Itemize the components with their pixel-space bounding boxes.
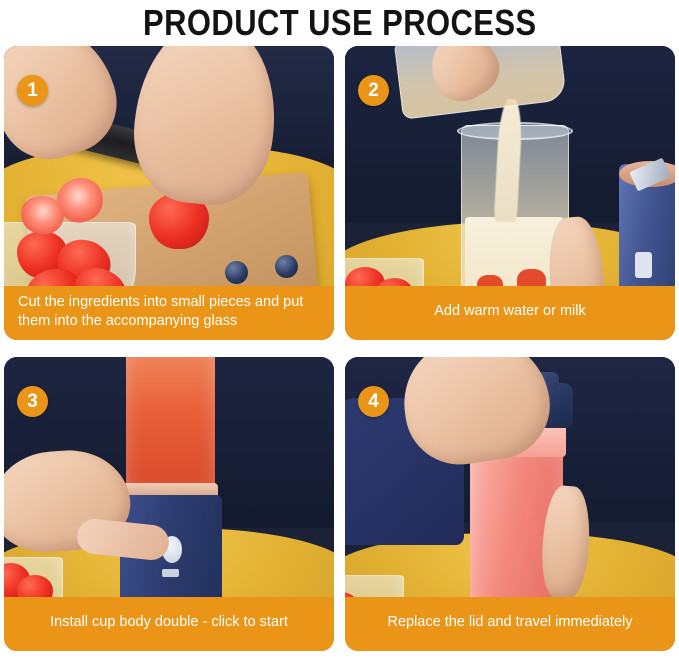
- step-caption-4: Replace the lid and travel immediately: [345, 597, 675, 651]
- step-number-badge-4: 4: [358, 386, 389, 417]
- step-caption-text: Replace the lid and travel immediately: [355, 613, 665, 632]
- blueberry-icon: [275, 255, 298, 279]
- step-panel-2: 2 Add warm water or milk: [345, 46, 675, 340]
- step-number-badge-1: 1: [17, 75, 48, 106]
- step-caption-text: Install cup body double - click to start: [14, 613, 324, 632]
- step-caption-text: Cut the ingredients into small pieces an…: [18, 293, 324, 331]
- blueberry-icon: [225, 261, 248, 285]
- step-caption-text: Add warm water or milk: [355, 302, 665, 321]
- steps-grid: 1 Cut the ingredients into small pieces …: [0, 46, 679, 659]
- product-use-process-infographic: PRODUCT USE PROCESS: [0, 0, 679, 659]
- step-panel-3: 3 Install cup body double - click to sta…: [4, 357, 334, 651]
- step-caption-1: Cut the ingredients into small pieces an…: [4, 286, 334, 340]
- step-caption-2: Add warm water or milk: [345, 286, 675, 340]
- step-caption-3: Install cup body double - click to start: [4, 597, 334, 651]
- usb-port-icon: [162, 569, 179, 578]
- step-panel-4: 4 Replace the lid and travel immediately: [345, 357, 675, 651]
- blender-cup-with-smoothie: [126, 357, 215, 492]
- step-number-badge-3: 3: [17, 386, 48, 417]
- step-number-badge-2: 2: [358, 75, 389, 106]
- step-panel-1: 1 Cut the ingredients into small pieces …: [4, 46, 334, 340]
- page-title: PRODUCT USE PROCESS: [143, 2, 537, 44]
- blender-power-button: [635, 252, 652, 278]
- title-bar: PRODUCT USE PROCESS: [0, 0, 679, 46]
